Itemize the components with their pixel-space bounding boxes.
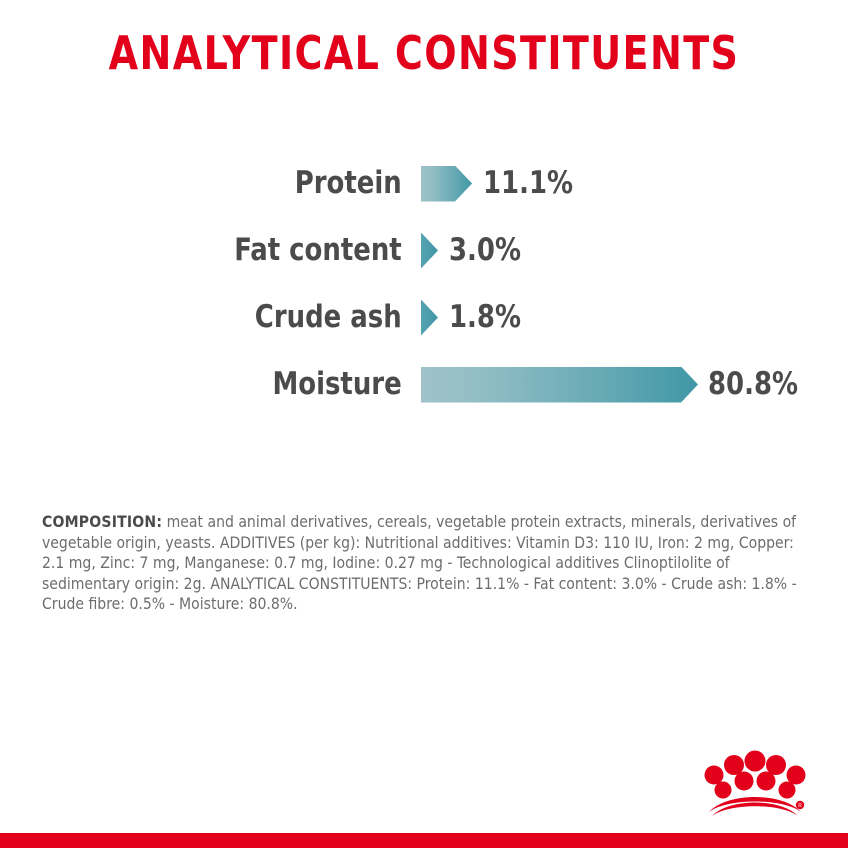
- composition-text: COMPOSITION: meat and animal derivatives…: [42, 512, 806, 615]
- chart-row-value: 80.8%: [708, 369, 798, 400]
- chart-row-value: 1.8%: [449, 302, 521, 333]
- product-info-panel: ANALYTICAL CONSTITUENTS Protein 11.1% Fa…: [0, 0, 848, 848]
- chart-row-moisture: Moisture 80.8%: [0, 351, 848, 418]
- composition-heading: COMPOSITION:: [42, 513, 162, 531]
- chart-row-fat-content: Fat content 3.0%: [0, 217, 848, 284]
- chart-row-label: Moisture: [29, 369, 411, 400]
- chart-bar-wrap: [421, 300, 438, 336]
- page-title: ANALYTICAL CONSTITUENTS: [34, 26, 814, 80]
- chart-row-value: 11.1%: [483, 168, 573, 199]
- chart-bar-wrap: [421, 166, 472, 202]
- chart-row-label: Fat content: [29, 235, 411, 266]
- chart-row-crude-ash: Crude ash 1.8%: [0, 284, 848, 351]
- chart-row-value: 3.0%: [449, 235, 521, 266]
- chart-bar-moisture: [421, 367, 698, 403]
- chart-row-protein: Protein 11.1%: [0, 150, 848, 217]
- chart-bar-protein: [421, 166, 472, 202]
- chart-bar-crude-ash: [421, 300, 438, 336]
- royal-canin-crown-logo: R: [703, 748, 807, 820]
- chart-bar-wrap: [421, 367, 698, 403]
- svg-text:R: R: [798, 803, 802, 809]
- chart-row-label: Protein: [29, 168, 411, 199]
- footer-accent-bar: [0, 833, 848, 848]
- chart-bar-wrap: [421, 233, 438, 269]
- chart-bar-fat-content: [421, 233, 438, 269]
- chart-row-label: Crude ash: [29, 302, 411, 333]
- analytical-constituents-chart: Protein 11.1% Fat content 3.0% Crude ash…: [0, 150, 848, 418]
